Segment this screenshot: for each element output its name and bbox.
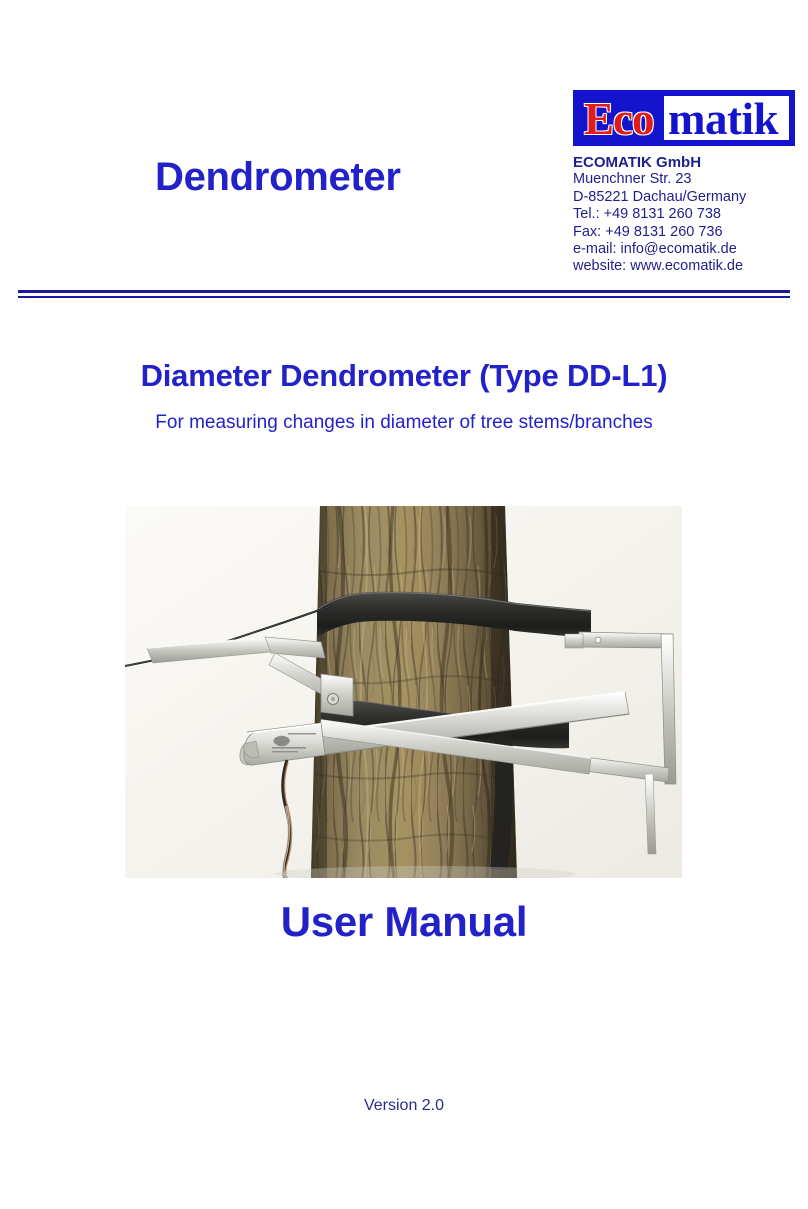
company-website: website: www.ecomatik.de [573, 258, 795, 275]
version-label: Version 2.0 [0, 1097, 808, 1115]
product-heading: Diameter Dendrometer (Type DD-L1) [0, 358, 808, 394]
page-title: Dendrometer [155, 155, 401, 200]
ecomatik-logo: Eco matik [573, 90, 795, 146]
logo-text-matik: matik [668, 92, 778, 146]
product-subheading: For measuring changes in diameter of tre… [0, 412, 808, 434]
company-city: D-85221 Dachau/Germany [573, 189, 795, 206]
company-fax: Fax: +49 8131 260 736 [573, 224, 795, 241]
company-logo-block: Eco matik ECOMATIK GmbH Muenchner Str. 2… [573, 90, 795, 276]
logo-text-eco: Eco [584, 92, 654, 146]
user-manual-title: User Manual [0, 898, 808, 946]
company-street: Muenchner Str. 23 [573, 171, 795, 188]
divider-line-thick [18, 290, 790, 293]
divider-line-thin [18, 296, 790, 298]
company-email: e-mail: info@ecomatik.de [573, 241, 795, 258]
manual-cover-page: Dendrometer Eco matik ECOMATIK GmbH Muen… [0, 0, 808, 1209]
company-address: ECOMATIK GmbH Muenchner Str. 23 D-85221 … [573, 154, 795, 276]
header-divider [18, 290, 790, 299]
product-photo [125, 506, 682, 878]
page-header: Dendrometer Eco matik ECOMATIK GmbH Muen… [0, 0, 808, 300]
company-telephone: Tel.: +49 8131 260 738 [573, 206, 795, 223]
company-name: ECOMATIK GmbH [573, 154, 795, 171]
dendrometer-on-tree-illustration [125, 506, 682, 878]
pivot-bolt-assembly [321, 674, 353, 716]
